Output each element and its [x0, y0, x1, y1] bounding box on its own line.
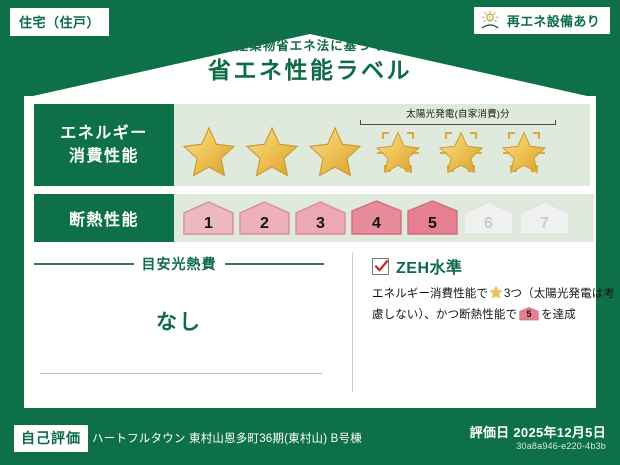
renewable-badge-label: 再エネ設備あり [507, 11, 600, 30]
grade-number: 6 [484, 216, 493, 236]
label-title-block: 建築物省エネ法に基づく 省エネ性能ラベル [0, 40, 620, 85]
section-divider [352, 252, 353, 392]
insulation-grade-3: 3 [294, 200, 347, 236]
inline-star-icon [489, 285, 503, 306]
grade-number: 4 [372, 216, 381, 236]
energy-stars-panel: 太陽光発電(自家消費)分 [174, 104, 590, 186]
utility-cost-block: 目安光熱費 なし [34, 248, 334, 398]
title-subtitle: 建築物省エネ法に基づく [0, 40, 620, 54]
property-name: ハートフルタウン 東村山恩多町36期(東村山) B号棟 [92, 430, 362, 446]
insulation-grade-2: 2 [238, 200, 291, 236]
zeh-desc-part1: エネルギー消費性能で [372, 288, 488, 300]
self-evaluation-badge: 自己評価 [14, 425, 88, 452]
grade-number: 7 [540, 216, 549, 236]
star-filled [178, 119, 240, 181]
star-solar [493, 119, 555, 181]
insulation-grade-4: 4 [350, 200, 403, 236]
utility-cost-heading: 目安光熱費 [34, 254, 324, 274]
inline-grade-number: 5 [519, 308, 539, 321]
zeh-description: エネルギー消費性能で3つ（太陽光発電は考慮しない）、かつ断熱性能で5を達成 [372, 285, 620, 325]
star-solar [367, 119, 429, 181]
insulation-grade-6: 6 [462, 200, 515, 236]
grade-number: 5 [428, 216, 437, 236]
utility-cost-underline [40, 373, 322, 374]
energy-star-rating [178, 119, 555, 181]
label-body-card: エネルギー 消費性能 太陽光発電(自家消費)分 [24, 96, 596, 408]
grade-number: 3 [316, 216, 325, 236]
insulation-label: 断熱性能 [69, 206, 139, 230]
evaluation-date: 評価日 2025年12月5日 [470, 422, 606, 441]
sun-icon: E [480, 10, 502, 30]
insulation-grade-scale: 1 2 3 4 5 [182, 200, 571, 236]
utility-cost-value: なし [34, 306, 324, 336]
grade-number: 1 [204, 216, 213, 236]
zeh-title: ZEH水準 [396, 254, 463, 278]
bottom-section: 目安光熱費 なし ZEH水準 エネルギー消費性能で3つ（太陽 [34, 248, 586, 398]
star-filled [241, 119, 303, 181]
zeh-heading: ZEH水準 [372, 254, 620, 278]
inline-grade-badge: 5 [519, 307, 539, 321]
grade-number: 2 [260, 216, 269, 236]
star-solar [430, 119, 492, 181]
house-type-badge: 住宅（住戸） [10, 8, 109, 36]
insulation-performance-label-block: 断熱性能 [34, 194, 174, 242]
energy-performance-label: 住宅（住戸） E 再エネ設備あり 建築物省エネ法に基づく 省エネ [0, 0, 620, 465]
energy-label-line1: エネルギー [60, 122, 148, 145]
check-icon [374, 259, 389, 274]
solar-portion-caption: 太陽光発電(自家消費)分 [360, 106, 556, 120]
heading-rule-left [34, 263, 134, 265]
energy-performance-row: エネルギー 消費性能 太陽光発電(自家消費)分 [34, 104, 590, 186]
heading-rule-right [225, 263, 325, 265]
insulation-grades-panel: 1 2 3 4 5 [174, 194, 594, 242]
insulation-performance-row: 断熱性能 1 2 3 [34, 194, 594, 242]
insulation-grade-5: 5 [406, 200, 459, 236]
zeh-checkbox[interactable] [372, 258, 389, 275]
evaluation-id: 30a8a946-e220-4b3b [516, 441, 606, 451]
zeh-desc-part4: を達成 [541, 309, 576, 321]
footer-bar: 自己評価 ハートフルタウン 東村山恩多町36期(東村山) B号棟 評価日 202… [0, 408, 620, 465]
page-title: 省エネ性能ラベル [0, 56, 620, 85]
renewable-equipment-badge: E 再エネ設備あり [474, 7, 610, 34]
utility-cost-title: 目安光熱費 [142, 254, 217, 274]
zeh-desc-part2: 3つ（太陽光発電 [504, 288, 592, 300]
energy-performance-label-block: エネルギー 消費性能 [34, 104, 174, 186]
svg-text:E: E [488, 15, 491, 20]
star-filled [304, 119, 366, 181]
insulation-grade-1: 1 [182, 200, 235, 236]
zeh-block: ZEH水準 エネルギー消費性能で3つ（太陽光発電は考慮しない）、かつ断熱性能で5… [372, 254, 620, 325]
energy-label-line2: 消費性能 [69, 145, 139, 168]
insulation-grade-7: 7 [518, 200, 571, 236]
